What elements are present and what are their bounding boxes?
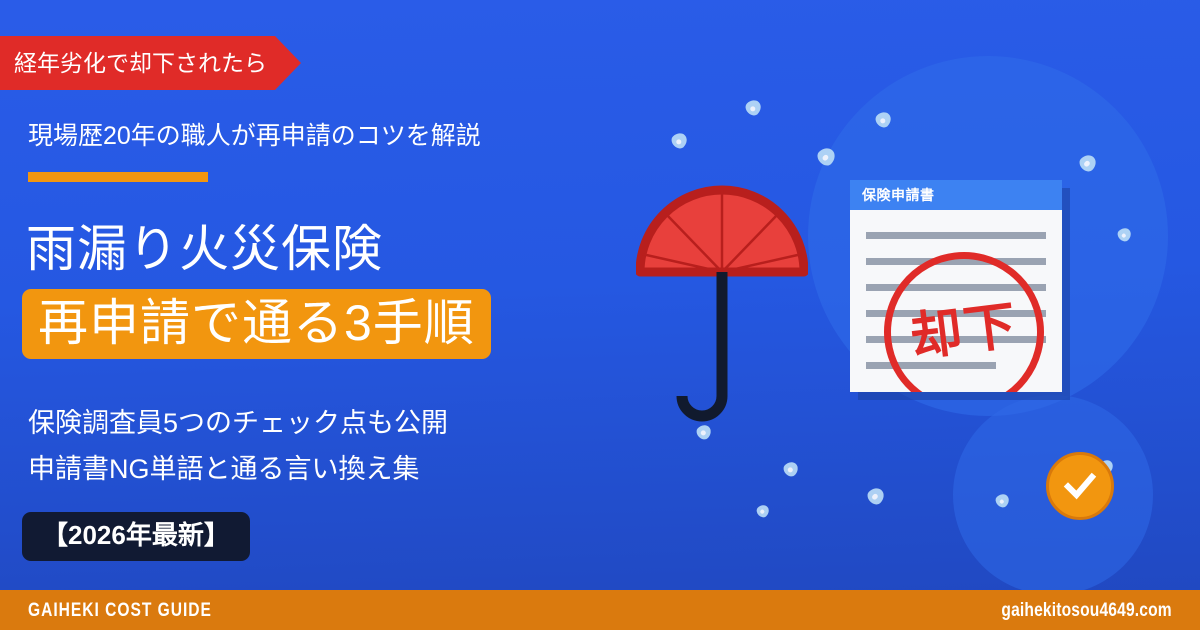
title-line-1: 雨漏り火災保険 bbox=[26, 224, 383, 274]
check-icon bbox=[1061, 467, 1099, 505]
footer-bar: GAIHEKI COST GUIDE gaihekitosou4649.com bbox=[0, 590, 1200, 630]
raindrop-icon bbox=[868, 488, 884, 504]
red-umbrella-icon bbox=[636, 168, 808, 428]
benefit-line-1: 保険調査員5つのチェック点も公開 bbox=[28, 410, 448, 437]
accent-underline-bar bbox=[28, 172, 208, 182]
benefit-line-2: 申請書NG単語と通る言い換え集 bbox=[28, 456, 420, 483]
document-header: 保険申請書 bbox=[850, 180, 1062, 210]
raindrop-icon bbox=[996, 494, 1009, 507]
ribbon-label: 経年劣化で却下されたら bbox=[14, 52, 267, 75]
raindrop-icon bbox=[818, 148, 835, 165]
check-badge bbox=[1046, 452, 1114, 520]
rejected-stamp: 却下 bbox=[875, 243, 1053, 392]
raindrop-icon bbox=[876, 112, 891, 127]
document-body: 却下 bbox=[850, 210, 1062, 392]
date-badge-text: 【2026年最新】 bbox=[42, 520, 230, 550]
date-badge: 【2026年最新】 bbox=[22, 512, 250, 561]
raindrop-icon bbox=[757, 505, 769, 517]
insurance-document-card: 保険申請書 却下 bbox=[850, 180, 1062, 392]
raindrop-icon bbox=[1118, 228, 1131, 241]
raindrop-icon bbox=[784, 462, 798, 476]
rejected-stamp-text: 却下 bbox=[907, 300, 1021, 365]
ribbon-banner: 経年劣化で却下されたら bbox=[0, 36, 301, 90]
footer-brand: GAIHEKI COST GUIDE bbox=[28, 601, 212, 620]
subheadline: 現場歴20年の職人が再申請のコツを解説 bbox=[28, 124, 481, 149]
footer-url: gaihekitosou4649.com bbox=[1002, 601, 1172, 620]
title-highlight-box: 再申請で通る3手順 bbox=[22, 289, 491, 359]
document-header-title: 保険申請書 bbox=[862, 188, 935, 202]
ogp-banner: 保険申請書 却下 経年劣化で却下されたら 現場歴20年の職人が再申請のコツを解説… bbox=[0, 0, 1200, 630]
document-text-line bbox=[866, 232, 1046, 239]
raindrop-icon bbox=[672, 133, 687, 148]
raindrop-icon bbox=[1080, 155, 1096, 171]
title-line-2: 再申請で通る3手順 bbox=[38, 295, 475, 351]
raindrop-icon bbox=[746, 100, 761, 115]
